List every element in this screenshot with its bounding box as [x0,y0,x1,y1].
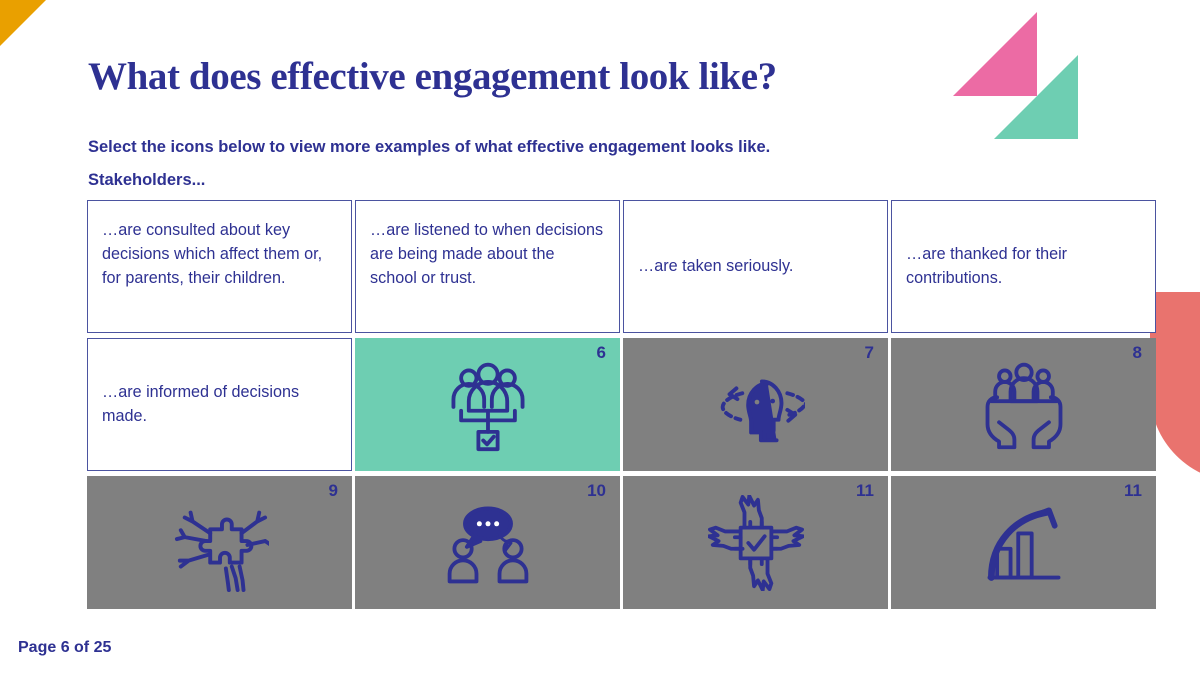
engagement-grid: …are consulted about key decisions which… [87,200,1156,609]
icon-tile-10[interactable]: 10 [355,476,620,609]
two-people-speech-bubble-icon [440,495,536,591]
icon-tile-7[interactable]: 7 [623,338,888,471]
icon-tile-8[interactable]: 8 [891,338,1156,471]
statement-card-text: …are thanked for their contributions. [906,243,1141,291]
icon-tile-number: 8 [1133,344,1142,361]
statement-card-text: …are listened to when decisions are bein… [370,221,603,287]
page-indicator: Page 6 of 25 [18,639,111,657]
statement-card-text: …are informed of decisions made. [102,381,337,429]
icon-tile-11[interactable]: 11 [891,476,1156,609]
icon-tile-number: 11 [1124,482,1142,499]
page-title: What does effective engagement look like… [88,54,777,99]
green-triangle-decoration [994,55,1078,139]
icon-tile-number: 9 [329,482,338,499]
statement-card: …are informed of decisions made. [87,338,352,471]
group-vote-icon [440,357,536,453]
red-blob-decoration [1150,292,1200,482]
instruction-text: Select the icons below to view more exam… [88,138,770,157]
icon-tile-9[interactable]: 9 [87,476,352,609]
growth-chart-arrow-icon [976,495,1072,591]
lead-in-label: Stakeholders... [88,171,205,190]
hands-holding-people-icon [976,357,1072,453]
four-hands-checkmark-icon [708,495,804,591]
statement-card: …are listened to when decisions are bein… [355,200,620,333]
statement-card-text: …are consulted about key decisions which… [102,221,322,287]
icon-tile-number: 11 [856,482,874,499]
icon-tile-6[interactable]: 6 [355,338,620,471]
statement-card: …are thanked for their contributions. [891,200,1156,333]
two-heads-perspective-icon [707,356,805,454]
statement-card: …are consulted about key decisions which… [87,200,352,333]
icon-tile-11[interactable]: 11 [623,476,888,609]
icon-tile-number: 7 [865,344,874,361]
hands-puzzle-pieces-icon [171,494,269,592]
yellow-corner-triangle-decoration [0,0,46,46]
statement-card: …are taken seriously. [623,200,888,333]
statement-card-text: …are taken seriously. [638,255,793,279]
icon-tile-number: 6 [597,344,606,361]
icon-tile-number: 10 [587,482,606,499]
